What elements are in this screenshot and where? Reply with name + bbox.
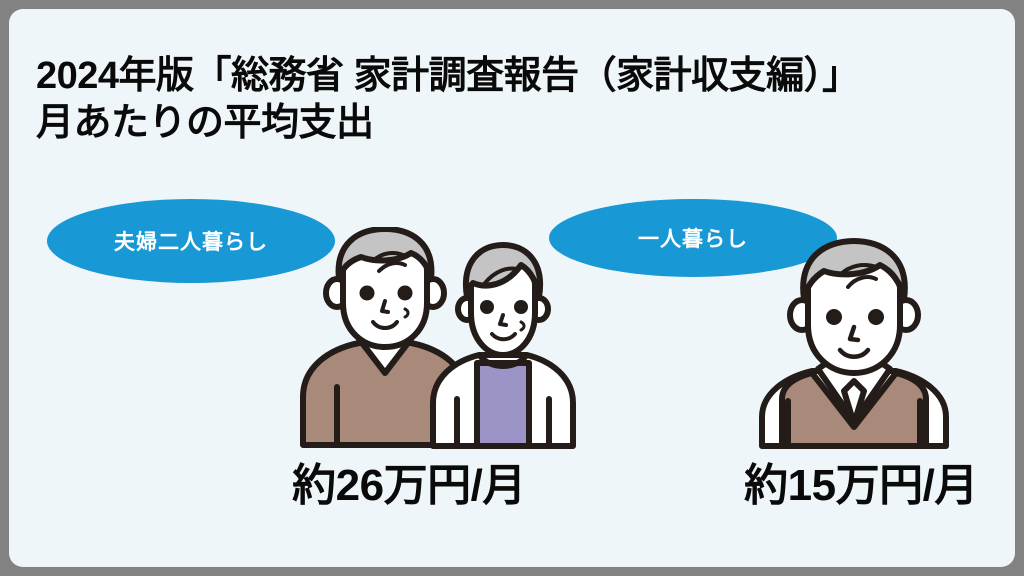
- content-card: 2024年版「総務省 家計調査報告（家計収支編）」 月あたりの平均支出 夫婦二人…: [9, 9, 1015, 567]
- woman-eye-right: [514, 300, 528, 314]
- man-eye-left: [360, 286, 375, 301]
- elderly-single-man-illustration: [744, 231, 964, 456]
- man-eye-right: [398, 286, 413, 301]
- screenshot-frame: 2024年版「総務省 家計調査報告（家計収支編）」 月あたりの平均支出 夫婦二人…: [0, 0, 1024, 576]
- woman-eye-left: [480, 300, 494, 314]
- single-eye-right: [868, 309, 884, 325]
- elderly-couple-illustration: [281, 227, 581, 457]
- amount-couple: 約26万円/月: [274, 449, 544, 513]
- single-eye-left: [826, 309, 842, 325]
- amount-single: 約15万円/月: [721, 449, 1001, 513]
- woman-inner-top: [477, 363, 529, 446]
